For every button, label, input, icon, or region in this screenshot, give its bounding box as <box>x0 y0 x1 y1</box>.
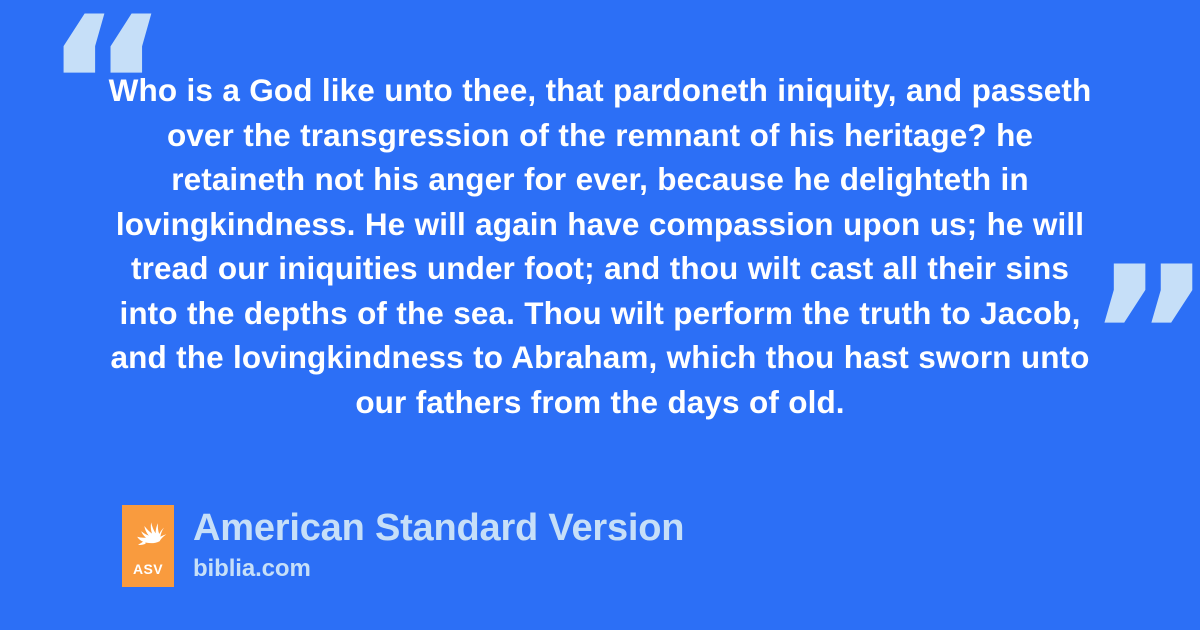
verse-quote-card: “ Who is a God like unto thee, that pard… <box>0 0 1200 630</box>
asv-logo: ASV <box>122 505 174 587</box>
bible-version-title: American Standard Version <box>193 506 684 550</box>
branding: ASV American Standard Version biblia.com <box>122 505 684 587</box>
quote-text: Who is a God like unto thee, that pardon… <box>100 68 1100 424</box>
website-link[interactable]: biblia.com <box>193 555 684 583</box>
brand-text-group: American Standard Version biblia.com <box>193 505 684 583</box>
quote-block: Who is a God like unto thee, that pardon… <box>100 68 1100 424</box>
wheat-burst-icon <box>128 514 168 554</box>
logo-abbreviation: ASV <box>122 561 174 577</box>
close-quote-icon: ” <box>1087 242 1200 432</box>
